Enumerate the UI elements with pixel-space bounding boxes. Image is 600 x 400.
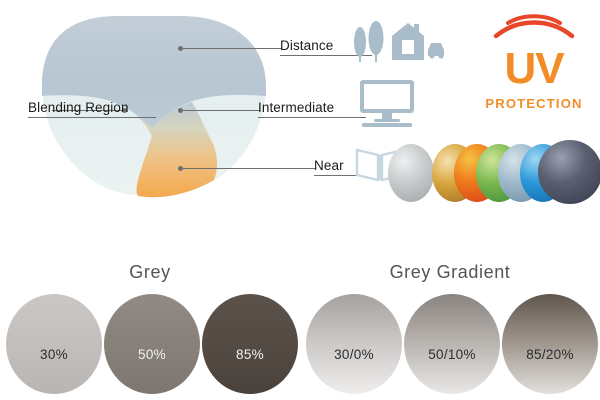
- tint-group-grey-title: Grey: [0, 262, 300, 283]
- leader-line-near: [183, 168, 316, 169]
- tint-group-grey-gradient-title: Grey Gradient: [300, 262, 600, 283]
- tint-group-grey-gradient: Grey Gradient 30/0% 50/10% 85/20%: [300, 250, 600, 400]
- swatch-gradient-85-20-label: 85/20%: [526, 347, 574, 362]
- swatch-gradient-85-20[interactable]: 85/20%: [502, 294, 598, 394]
- tint-group-grey: Grey 30% 50% 85%: [0, 250, 300, 400]
- top-section: Distance Intermediate Near Blending Regi…: [0, 0, 600, 232]
- callout-blending-region: Blending Region: [28, 100, 156, 118]
- swatch-gradient-30-0[interactable]: 30/0%: [306, 294, 402, 394]
- tint-group-grey-gradient-swatches: 30/0% 50/10% 85/20%: [300, 294, 600, 400]
- callout-blending-region-label: Blending Region: [28, 100, 156, 117]
- swatch-grey-30[interactable]: 30%: [6, 294, 102, 394]
- leader-line-distance: [183, 48, 282, 49]
- swatch-grey-30-label: 30%: [40, 347, 68, 362]
- swatch-gradient-50-10-label: 50/10%: [428, 347, 476, 362]
- swatch-gradient-30-0-label: 30/0%: [334, 347, 374, 362]
- tint-swatch-section: Grey 30% 50% 85% Grey Gradient 30/0%: [0, 250, 600, 400]
- progressive-lens-diagram: Distance Intermediate Near Blending Regi…: [22, 8, 342, 208]
- callout-intermediate-rule: [258, 117, 366, 118]
- lens-disc-charcoal-navy: [538, 140, 600, 204]
- uv-arcs-icon: [478, 12, 590, 46]
- uv-logo-subtitle: PROTECTION: [478, 96, 590, 111]
- lens-product-infographic: Distance Intermediate Near Blending Regi…: [0, 0, 600, 400]
- uv-protection-logo: UV PROTECTION: [478, 12, 590, 124]
- swatch-grey-50[interactable]: 50%: [104, 294, 200, 394]
- swatch-gradient-50-10[interactable]: 50/10%: [404, 294, 500, 394]
- lens-tint-color-row: [388, 140, 600, 212]
- computer-monitor-icon: [358, 78, 416, 128]
- trees-house-car-icon: [352, 18, 444, 64]
- uv-logo-text: UV: [478, 46, 590, 92]
- leader-line-intermediate: [183, 110, 260, 111]
- callout-intermediate-label: Intermediate: [258, 100, 366, 117]
- swatch-grey-50-label: 50%: [138, 347, 166, 362]
- activity-icon-group: [352, 18, 448, 148]
- swatch-grey-85-label: 85%: [236, 347, 264, 362]
- swatch-grey-85[interactable]: 85%: [202, 294, 298, 394]
- tint-group-grey-swatches: 30% 50% 85%: [0, 294, 300, 400]
- callout-intermediate: Intermediate: [258, 100, 366, 118]
- callout-blending-region-rule: [28, 117, 156, 118]
